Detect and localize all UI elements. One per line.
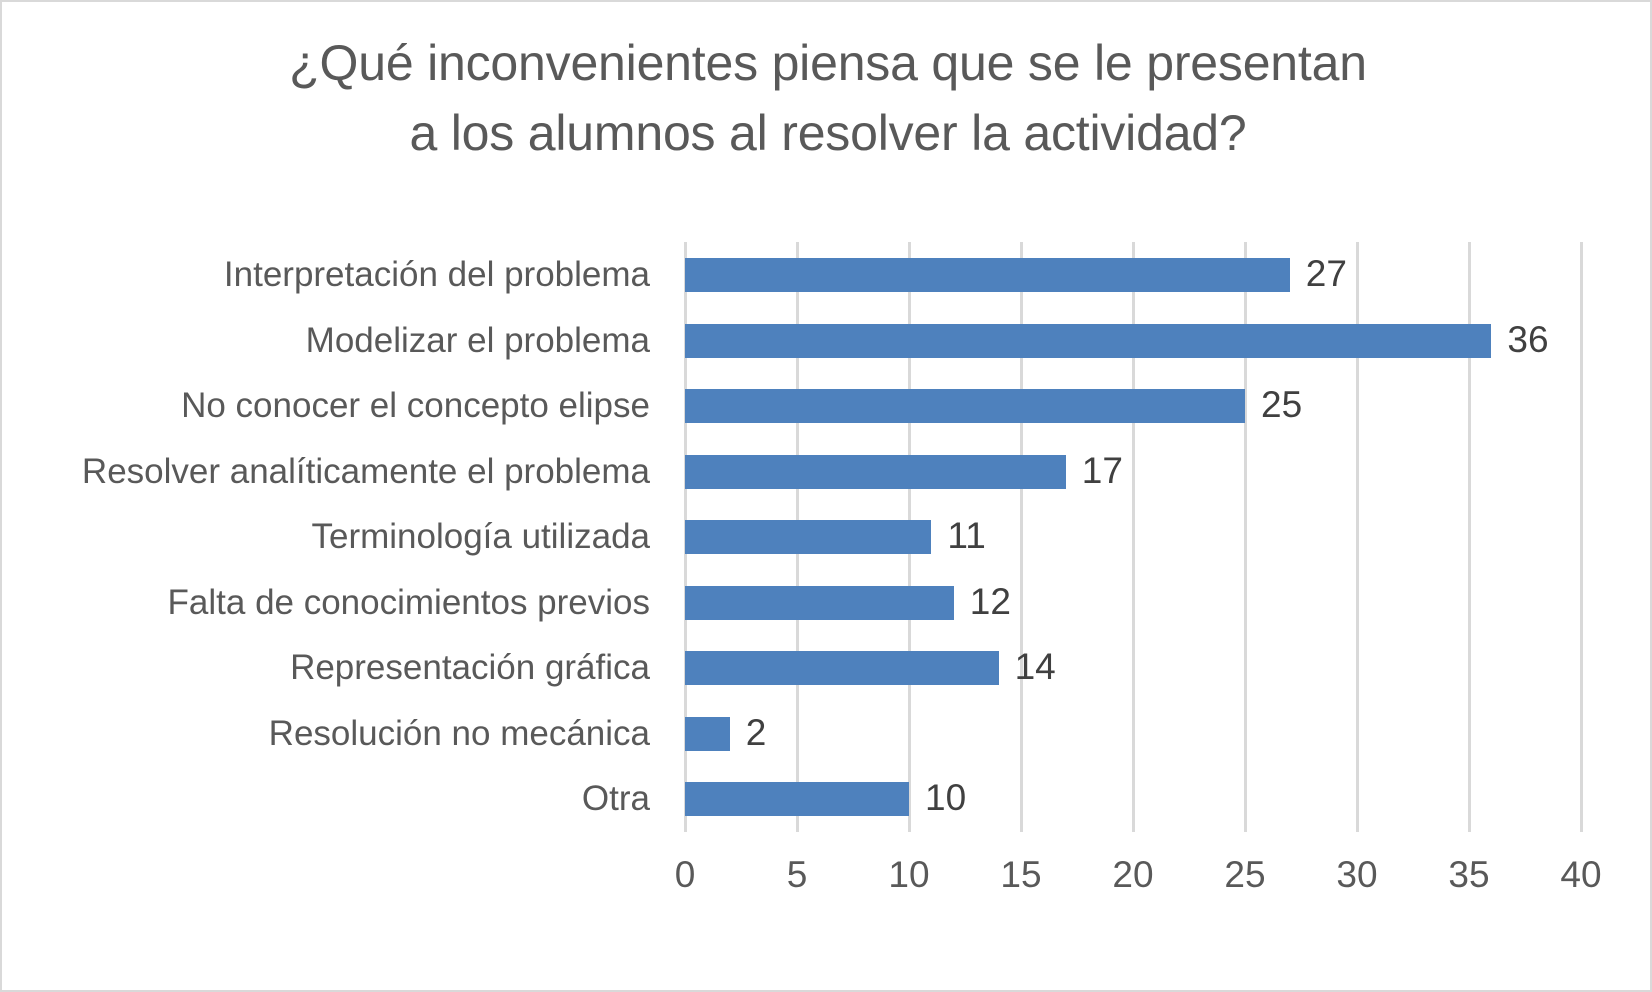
bar-series: 27362517111214210 [685,242,1581,832]
category-label: Falta de conocimientos previos [168,570,650,636]
bar-row: 2 [685,701,1581,767]
value-axis-ticks: 0510152025303540 [685,847,1581,907]
bar-value-label: 25 [1261,380,1302,430]
bar-value-label: 11 [947,511,985,561]
value-axis-tick-label: 0 [675,847,696,903]
value-axis-tick-label: 10 [888,847,929,903]
bar[interactable] [685,324,1491,358]
value-axis-tick-label: 15 [1000,847,1041,903]
bar[interactable] [685,455,1066,489]
plot-area: 27362517111214210 [685,242,1581,832]
bar[interactable] [685,717,730,751]
value-axis-tick-label: 30 [1336,847,1377,903]
bar-value-label: 14 [1015,642,1056,692]
category-label: Resolver analíticamente el problema [82,439,650,505]
category-label: Modelizar el problema [306,308,650,374]
value-axis-tick-label: 35 [1448,847,1489,903]
bar-value-label: 10 [925,773,966,823]
category-label: Representación gráfica [290,635,650,701]
chart-container: ¿Qué inconvenientes piensa que se le pre… [0,0,1652,992]
bar[interactable] [685,651,999,685]
value-axis-tick-label: 40 [1560,847,1601,903]
bar-row: 11 [685,504,1581,570]
category-label: Interpretación del problema [224,242,650,308]
bar-row: 25 [685,373,1581,439]
category-label: Terminología utilizada [311,504,650,570]
value-axis-tick-label: 5 [787,847,808,903]
value-axis-tick-label: 20 [1112,847,1153,903]
bar-row: 17 [685,439,1581,505]
bar[interactable] [685,586,954,620]
chart-title: ¿Qué inconvenientes piensa que se le pre… [2,28,1652,168]
bar-value-label: 27 [1306,249,1347,299]
bar-value-label: 12 [970,577,1011,627]
bar-row: 14 [685,635,1581,701]
bar-value-label: 2 [746,708,767,758]
bar[interactable] [685,258,1290,292]
category-label: No conocer el concepto elipse [181,373,650,439]
value-axis-tick-label: 25 [1224,847,1265,903]
category-label: Resolución no mecánica [269,701,650,767]
bar-row: 10 [685,766,1581,832]
bar-row: 27 [685,242,1581,308]
bar-value-label: 36 [1507,315,1548,365]
bar[interactable] [685,389,1245,423]
category-axis-labels: Interpretación del problemaModelizar el … [2,242,650,832]
bar[interactable] [685,782,909,816]
bar-value-label: 17 [1082,446,1123,496]
bar[interactable] [685,520,931,554]
bar-row: 12 [685,570,1581,636]
category-label: Otra [582,766,650,832]
bar-row: 36 [685,308,1581,374]
